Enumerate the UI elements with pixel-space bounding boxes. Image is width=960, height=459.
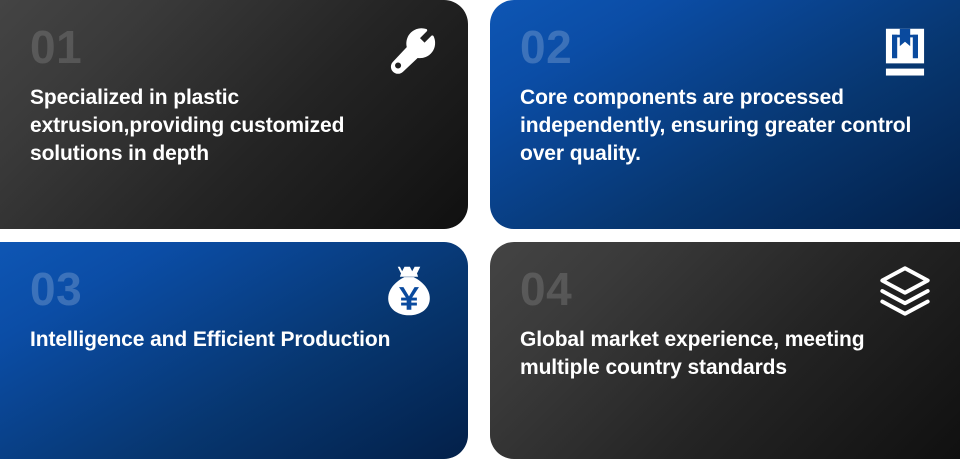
feature-card-01[interactable]: 01 Specialized in plastic extrusion,prov…	[0, 0, 468, 229]
feature-card-02[interactable]: 02 Core components are processed indepen…	[490, 0, 960, 229]
feature-card-04-text: Global market experience, meeting multip…	[520, 326, 915, 382]
feature-card-grid: 01 Specialized in plastic extrusion,prov…	[0, 0, 960, 459]
feature-card-01-number: 01	[30, 24, 438, 70]
feature-card-04-inner: 04 Global market experience, meeting mul…	[490, 242, 960, 459]
feature-card-03-text: Intelligence and Efficient Production	[30, 326, 430, 354]
feature-card-04[interactable]: 04 Global market experience, meeting mul…	[490, 242, 960, 459]
feature-card-01-text: Specialized in plastic extrusion,providi…	[30, 84, 438, 168]
feature-card-03-inner: 03 Intelligence and Efficient Production	[0, 242, 468, 459]
feature-card-02-number: 02	[520, 24, 930, 70]
feature-card-01-inner: 01 Specialized in plastic extrusion,prov…	[0, 0, 468, 229]
feature-card-03-number: 03	[30, 266, 438, 312]
feature-card-02-text: Core components are processed independen…	[520, 84, 930, 168]
feature-card-04-number: 04	[520, 266, 930, 312]
feature-card-02-inner: 02 Core components are processed indepen…	[490, 0, 960, 229]
feature-card-03[interactable]: 03 Intelligence and Efficient Production	[0, 242, 468, 459]
